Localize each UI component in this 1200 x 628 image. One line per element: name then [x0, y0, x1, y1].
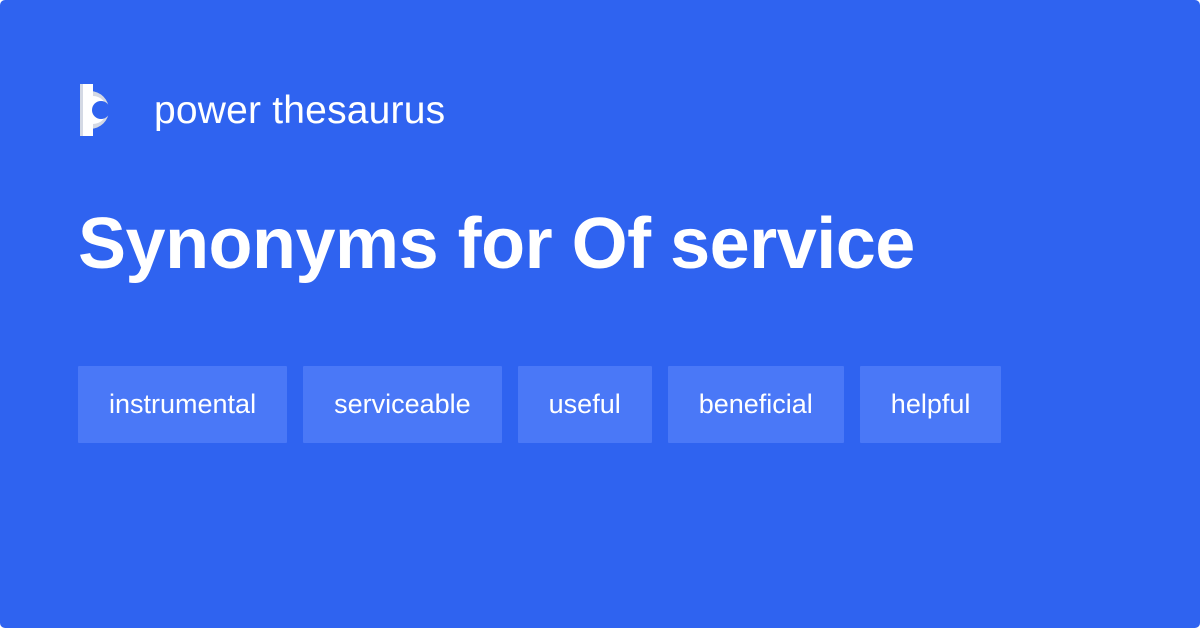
synonyms-share-card: power thesaurus Synonyms for Of service … — [0, 0, 1200, 628]
power-thesaurus-b-logo-icon — [80, 84, 126, 136]
synonym-chip[interactable]: helpful — [860, 366, 1002, 443]
brand-name: power thesaurus — [154, 91, 445, 130]
synonym-chip[interactable]: useful — [518, 366, 652, 443]
synonym-chip-list: instrumental serviceable useful benefici… — [78, 366, 1128, 443]
synonym-chip[interactable]: serviceable — [303, 366, 502, 443]
page-title: Synonyms for Of service — [78, 196, 915, 292]
synonym-chip[interactable]: beneficial — [668, 366, 844, 443]
brand-header[interactable]: power thesaurus — [80, 80, 445, 140]
synonym-chip[interactable]: instrumental — [78, 366, 287, 443]
